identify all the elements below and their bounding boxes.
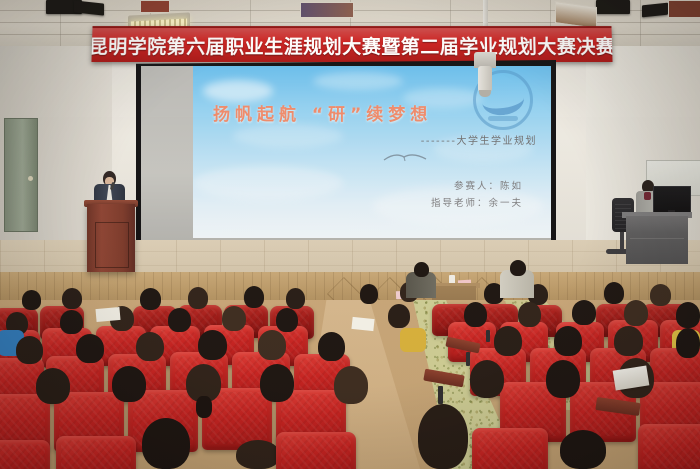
auditorium-seat[interactable] [638, 424, 700, 469]
audience-head [286, 288, 305, 309]
foreground-audience-head [560, 430, 606, 469]
seat-leg [438, 386, 443, 404]
notebook [95, 307, 120, 322]
audience-head [16, 336, 43, 364]
auditorium-seat[interactable] [472, 428, 548, 469]
audience-head [258, 330, 286, 360]
desk-seam [630, 238, 684, 239]
auditorium-photo: 昆明学院第六届职业生涯规划大赛暨第二届学业规划大赛决赛 扬帆起航 “研”续梦想 … [0, 0, 700, 469]
auditorium-seat[interactable] [0, 440, 50, 469]
foreground-audience-head [142, 418, 190, 469]
presentation-slide: 扬帆起航 “研”续梦想 -------大学生学业规划 参赛人：陈如 指导老师：余… [193, 66, 551, 238]
audience-head [614, 326, 643, 356]
event-banner: 昆明学院第六届职业生涯规划大赛暨第二届学业规划大赛决赛 [91, 26, 612, 62]
audience-head [334, 366, 368, 404]
door-handle-icon[interactable] [28, 176, 33, 181]
audience-head [464, 302, 487, 327]
ceiling-poster [300, 2, 354, 18]
audience-head [650, 284, 671, 306]
foreground-audience-head [418, 404, 468, 469]
slide-subtitle: -------大学生学业规划 [421, 132, 537, 147]
audience-head [494, 326, 522, 356]
audience-head [36, 368, 70, 404]
auditorium-seat[interactable] [56, 436, 136, 469]
foreground-audience-head [236, 440, 280, 469]
audience-head [676, 328, 700, 358]
projector-body [478, 66, 492, 92]
audience-head [360, 284, 378, 304]
audience-head [318, 332, 345, 361]
seat-leg [466, 352, 470, 366]
side-exit-door[interactable] [4, 118, 38, 232]
audience-head [222, 306, 246, 331]
av-control-desk [626, 216, 688, 264]
audience-head [22, 290, 41, 310]
ceiling-poster [140, 0, 170, 13]
ceiling-speaker-vent [596, 0, 630, 14]
audience-head [136, 332, 164, 361]
audience-ponytail [196, 396, 212, 418]
audience-head [198, 330, 227, 360]
seat-leg [486, 330, 490, 342]
notebook [351, 317, 374, 331]
attendee-jacket [400, 328, 426, 352]
lectern-panel-inset [95, 222, 129, 268]
auditorium-seat[interactable] [276, 432, 356, 469]
audience-head [244, 286, 264, 308]
slide-presenter-line: 参赛人：陈如 [454, 178, 523, 192]
audience-head [624, 300, 648, 326]
audience-head [388, 304, 410, 328]
slide-title: 扬帆起航 “研”续梦想 [213, 100, 541, 125]
projection-screen-frame: 扬帆起航 “研”续梦想 -------大学生学业规划 参赛人：陈如 指导老师：余… [136, 60, 556, 250]
standing-attendee-head [414, 262, 429, 277]
standing-attendee-head [510, 260, 526, 276]
audience-head [188, 287, 208, 309]
banner-gloss [92, 28, 612, 42]
audience-head [676, 302, 700, 328]
audience-head [60, 310, 83, 334]
audience-head [470, 360, 504, 398]
audience-head [140, 288, 161, 310]
av-technician-collar [644, 192, 651, 200]
slide-advisor-line: 指导老师：余一夫 [431, 195, 523, 209]
chair-post [620, 232, 624, 250]
audience-head [518, 302, 541, 327]
ceiling-poster [668, 0, 700, 18]
audience-head [276, 308, 298, 332]
audience-head [554, 326, 582, 356]
audience-head [572, 300, 596, 325]
audience-head [168, 308, 191, 332]
audience-head [112, 366, 146, 402]
seagull-silhouette [383, 151, 427, 163]
audience-head [604, 282, 624, 304]
audience-head [260, 364, 294, 402]
audience-head [76, 334, 104, 363]
audience-head [546, 360, 580, 398]
audience-head [62, 288, 82, 309]
